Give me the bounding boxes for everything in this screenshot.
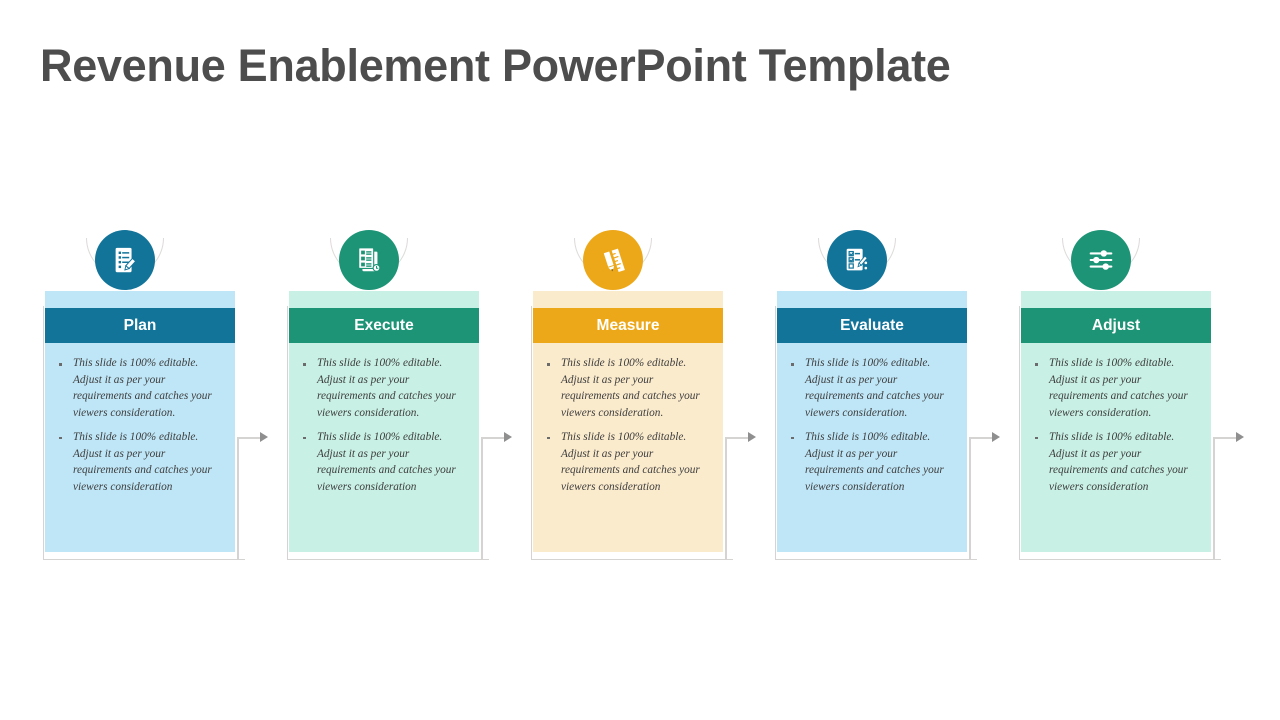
connector-arm: [725, 437, 749, 439]
stage-card[interactable]: PlanThis slide is 100% editable. Adjust …: [45, 291, 235, 552]
bullet-item: This slide is 100% editable. Adjust it a…: [1031, 429, 1199, 496]
connector-arm: [1213, 437, 1237, 439]
right-arrow-icon: [748, 432, 756, 442]
connector-riser: [481, 438, 483, 560]
bullet-item: This slide is 100% editable. Adjust it a…: [299, 355, 467, 422]
bullet-item: This slide is 100% editable. Adjust it a…: [55, 429, 223, 496]
card-top-strip: [45, 291, 235, 308]
stage-description: This slide is 100% editable. Adjust it a…: [289, 343, 479, 552]
bullet-list: This slide is 100% editable. Adjust it a…: [1031, 355, 1199, 496]
pencil-ruler-icon[interactable]: [583, 230, 643, 290]
stage-description: This slide is 100% editable. Adjust it a…: [777, 343, 967, 552]
right-arrow-icon: [992, 432, 1000, 442]
process-stage[interactable]: PlanThis slide is 100% editable. Adjust …: [37, 228, 281, 568]
slide-canvas: Revenue Enablement PowerPoint Template P…: [0, 0, 1280, 720]
stage-title: Adjust: [1021, 308, 1211, 343]
connector-riser: [725, 438, 727, 560]
connector-riser: [1213, 438, 1215, 560]
card-top-strip: [1021, 291, 1211, 308]
card-top-strip: [533, 291, 723, 308]
stage-description: This slide is 100% editable. Adjust it a…: [1021, 343, 1211, 552]
bullet-list: This slide is 100% editable. Adjust it a…: [787, 355, 955, 496]
connector-riser: [237, 438, 239, 560]
right-arrow-icon: [1236, 432, 1244, 442]
bullet-item: This slide is 100% editable. Adjust it a…: [1031, 355, 1199, 422]
stage-card[interactable]: AdjustThis slide is 100% editable. Adjus…: [1021, 291, 1211, 552]
connector-arm: [481, 437, 505, 439]
bullet-item: This slide is 100% editable. Adjust it a…: [55, 355, 223, 422]
stage-title: Execute: [289, 308, 479, 343]
connector-riser: [969, 438, 971, 560]
process-stage[interactable]: ExecuteThis slide is 100% editable. Adju…: [281, 228, 525, 568]
stage-card[interactable]: MeasureThis slide is 100% editable. Adju…: [533, 291, 723, 552]
process-flow-diagram: PlanThis slide is 100% editable. Adjust …: [0, 0, 1280, 720]
right-arrow-icon: [260, 432, 268, 442]
clipboard-pencil-icon[interactable]: [95, 230, 155, 290]
document-report-icon[interactable]: [339, 230, 399, 290]
stage-title: Evaluate: [777, 308, 967, 343]
stage-card[interactable]: EvaluateThis slide is 100% editable. Adj…: [777, 291, 967, 552]
bullet-item: This slide is 100% editable. Adjust it a…: [543, 429, 711, 496]
stage-description: This slide is 100% editable. Adjust it a…: [45, 343, 235, 552]
bullet-list: This slide is 100% editable. Adjust it a…: [299, 355, 467, 496]
card-top-strip: [289, 291, 479, 308]
stage-title: Plan: [45, 308, 235, 343]
right-arrow-icon: [504, 432, 512, 442]
process-stage[interactable]: AdjustThis slide is 100% editable. Adjus…: [1013, 228, 1257, 568]
process-stage[interactable]: MeasureThis slide is 100% editable. Adju…: [525, 228, 769, 568]
stage-card[interactable]: ExecuteThis slide is 100% editable. Adju…: [289, 291, 479, 552]
connector-arm: [237, 437, 261, 439]
card-top-strip: [777, 291, 967, 308]
process-stage[interactable]: EvaluateThis slide is 100% editable. Adj…: [769, 228, 1013, 568]
stage-title: Measure: [533, 308, 723, 343]
bullet-item: This slide is 100% editable. Adjust it a…: [299, 429, 467, 496]
connector-arm: [969, 437, 993, 439]
stage-description: This slide is 100% editable. Adjust it a…: [533, 343, 723, 552]
bullet-item: This slide is 100% editable. Adjust it a…: [787, 429, 955, 496]
evaluation-form-icon[interactable]: [827, 230, 887, 290]
bullet-list: This slide is 100% editable. Adjust it a…: [55, 355, 223, 496]
sliders-settings-icon[interactable]: [1071, 230, 1131, 290]
bullet-item: This slide is 100% editable. Adjust it a…: [543, 355, 711, 422]
bullet-list: This slide is 100% editable. Adjust it a…: [543, 355, 711, 496]
bullet-item: This slide is 100% editable. Adjust it a…: [787, 355, 955, 422]
